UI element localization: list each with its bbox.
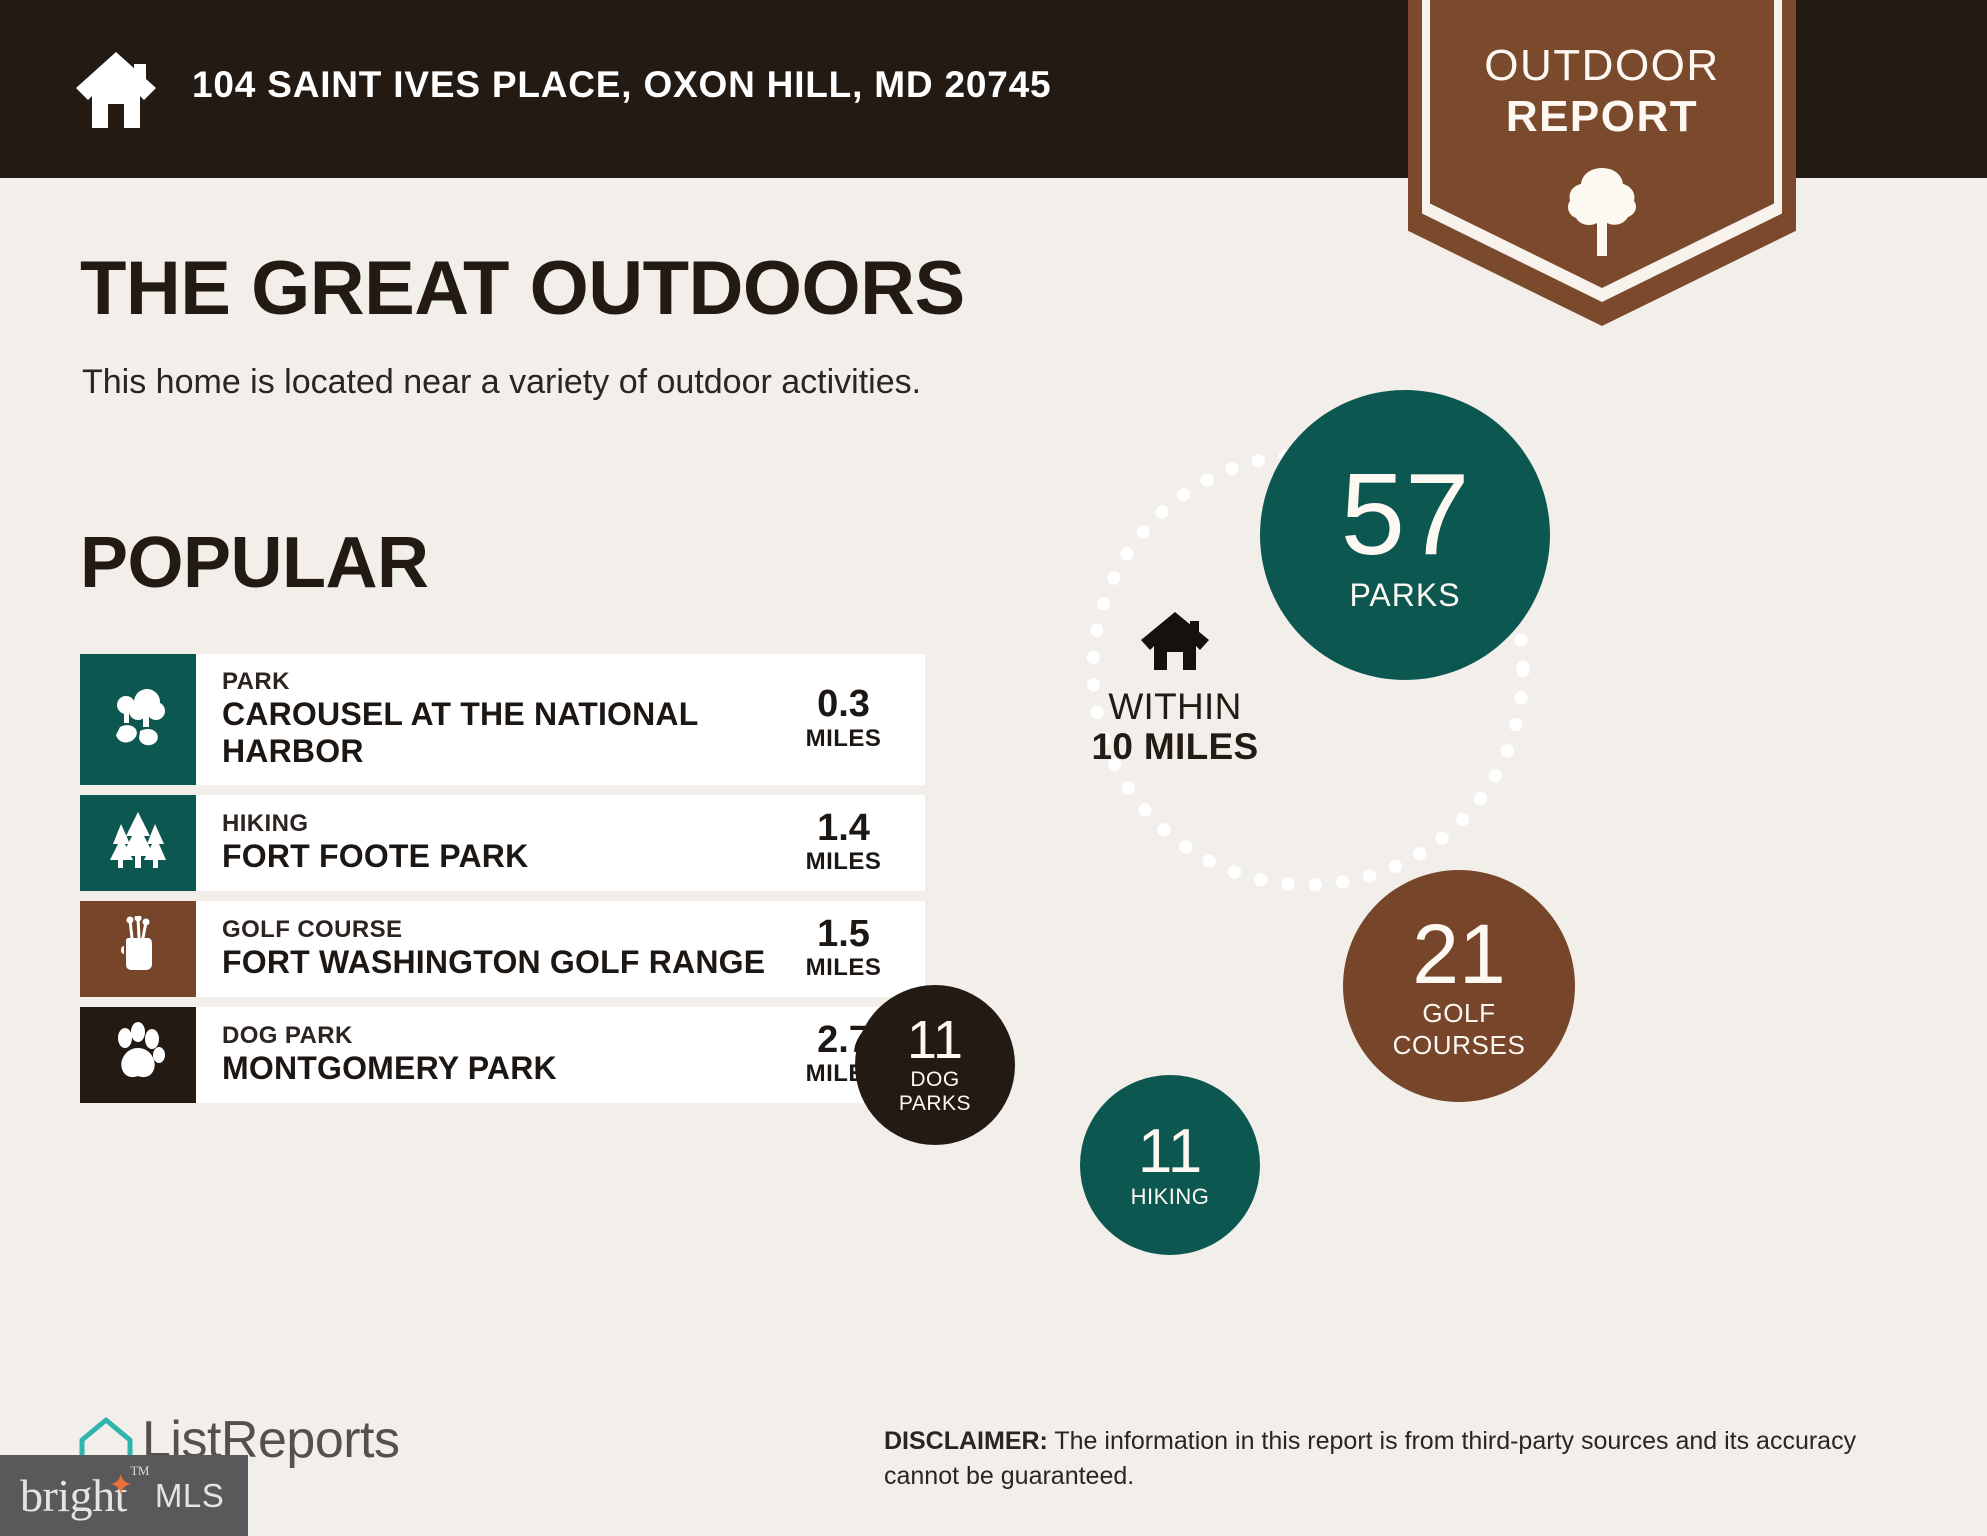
poi-distance-unit: MILES xyxy=(806,725,882,753)
bright-mls-watermark: bright ✦ TM MLS xyxy=(0,1455,248,1536)
bubble-hiking-value: 11 xyxy=(1138,1122,1202,1183)
poi-text: GOLF COURSE FORT WASHINGTON GOLF RANGE xyxy=(196,901,780,997)
star-icon: ✦ xyxy=(108,1471,133,1501)
poi-name: CAROUSEL AT THE NATIONAL HARBOR xyxy=(222,696,780,770)
popular-list: PARK CAROUSEL AT THE NATIONAL HARBOR 0.3… xyxy=(80,654,925,1113)
poi-category: DOG PARK xyxy=(222,1022,780,1050)
bubble-parks-value: 57 xyxy=(1340,458,1469,572)
golf-bag-icon xyxy=(110,916,166,981)
poi-distance-unit: MILES xyxy=(806,954,882,982)
page-subtitle: This home is located near a variety of o… xyxy=(82,363,921,402)
outdoor-report-page: 104 SAINT IVES PLACE, OXON HILL, MD 2074… xyxy=(0,0,1987,1536)
poi-icon-tile xyxy=(80,795,196,891)
amenities-bubble-diagram: 57 PARKS 21 GOLF COURSES 11 HIKING 11 DO… xyxy=(1020,430,1920,1190)
poi-text: PARK CAROUSEL AT THE NATIONAL HARBOR xyxy=(196,654,780,785)
poi-icon-tile xyxy=(80,1007,196,1103)
poi-name: FORT WASHINGTON GOLF RANGE xyxy=(222,944,780,981)
disclaimer-label: DISCLAIMER: xyxy=(884,1427,1048,1455)
bubble-golf-label-line2: COURSES xyxy=(1393,1031,1526,1059)
poi-icon-tile xyxy=(80,654,196,785)
poi-icon-tile xyxy=(80,901,196,997)
outdoor-report-badge: OUTDOOR REPORT xyxy=(1408,0,1796,326)
bubble-parks-label: PARKS xyxy=(1349,578,1460,613)
list-item[interactable]: HIKING FORT FOOTE PARK 1.4 MILES xyxy=(80,795,925,891)
poi-distance-value: 1.5 xyxy=(817,915,870,955)
bubble-dog-parks[interactable]: 11 DOG PARKS xyxy=(855,985,1015,1145)
trademark-mark: TM xyxy=(130,1463,149,1479)
poi-category: HIKING xyxy=(222,810,780,838)
badge-inner-border: OUTDOOR REPORT xyxy=(1422,0,1782,302)
poi-distance: 0.3 MILES xyxy=(780,654,925,785)
poi-distance-value: 1.4 xyxy=(817,809,870,849)
badge-title-line1: OUTDOOR xyxy=(1430,41,1774,91)
bubble-dogparks-label-line1: DOG xyxy=(910,1069,959,1092)
diagram-center-label: WITHIN 10 MILES xyxy=(1050,610,1300,768)
poi-distance-unit: MILES xyxy=(806,848,882,876)
poi-name: MONTGOMERY PARK xyxy=(222,1050,780,1087)
home-icon xyxy=(1138,610,1212,672)
bubble-hiking[interactable]: 11 HIKING xyxy=(1080,1075,1260,1255)
bubble-parks[interactable]: 57 PARKS xyxy=(1260,390,1550,680)
poi-category: GOLF COURSE xyxy=(222,916,780,944)
poi-name: FORT FOOTE PARK xyxy=(222,838,780,875)
popular-heading: POPULAR xyxy=(80,522,429,604)
poi-text: HIKING FORT FOOTE PARK xyxy=(196,795,780,891)
poi-distance: 1.5 MILES xyxy=(780,901,925,997)
tree-icon xyxy=(1564,164,1640,256)
poi-distance-value: 0.3 xyxy=(817,685,870,725)
badge-title-line2: REPORT xyxy=(1430,92,1774,142)
pine-trees-icon xyxy=(110,810,166,875)
list-item[interactable]: DOG PARK MONTGOMERY PARK 2.7 MILES xyxy=(80,1007,925,1103)
mls-text: MLS xyxy=(155,1477,224,1515)
home-icon xyxy=(72,48,160,132)
page-title: THE GREAT OUTDOORS xyxy=(80,245,965,332)
bubble-dogparks-label-line2: PARKS xyxy=(899,1093,971,1116)
bubble-dogparks-value: 11 xyxy=(907,1014,963,1067)
bubble-golf-label-line1: GOLF xyxy=(1422,999,1495,1027)
disclaimer: DISCLAIMER: The information in this repo… xyxy=(884,1424,1924,1493)
bubble-hiking-label: HIKING xyxy=(1131,1185,1210,1209)
paw-print-icon xyxy=(110,1022,166,1087)
list-item[interactable]: GOLF COURSE FORT WASHINGTON GOLF RANGE 1… xyxy=(80,901,925,997)
poi-category: PARK xyxy=(222,668,780,696)
park-trees-icon xyxy=(110,687,166,752)
poi-text: DOG PARK MONTGOMERY PARK xyxy=(196,1007,780,1103)
center-miles-label: 10 MILES xyxy=(1050,726,1300,768)
property-address: 104 SAINT IVES PLACE, OXON HILL, MD 2074… xyxy=(192,64,1051,106)
list-item[interactable]: PARK CAROUSEL AT THE NATIONAL HARBOR 0.3… xyxy=(80,654,925,785)
bubble-golf-value: 21 xyxy=(1412,913,1505,995)
poi-distance: 1.4 MILES xyxy=(780,795,925,891)
badge-inner-fill: OUTDOOR REPORT xyxy=(1430,0,1774,288)
bright-wordmark: bright ✦ TM xyxy=(20,1469,127,1522)
center-within-label: WITHIN xyxy=(1050,686,1300,728)
bubble-golf-courses[interactable]: 21 GOLF COURSES xyxy=(1343,870,1575,1102)
